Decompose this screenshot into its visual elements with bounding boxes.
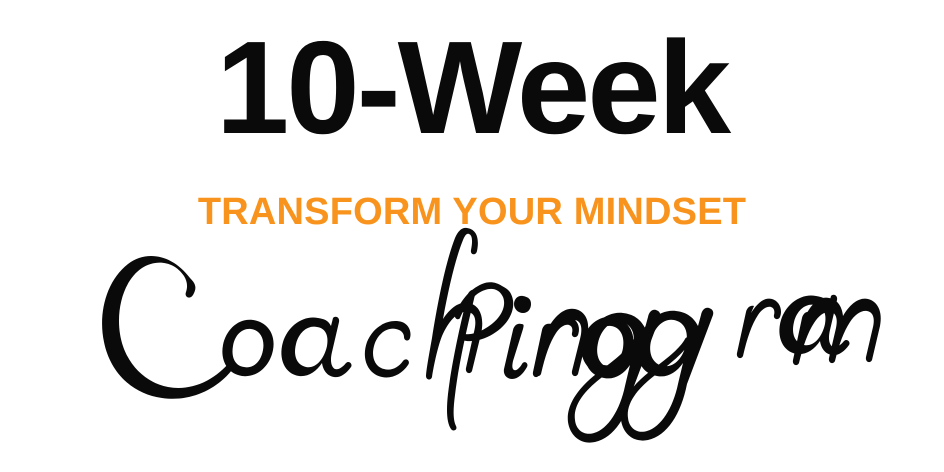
script-glyphs [102, 228, 881, 443]
script-tagline: Coaching Program [86, 214, 876, 446]
page-title: 10-Week [0, 22, 944, 154]
poster-canvas: 10-Week TRANSFORM YOUR MINDSET Coaching … [0, 0, 944, 472]
